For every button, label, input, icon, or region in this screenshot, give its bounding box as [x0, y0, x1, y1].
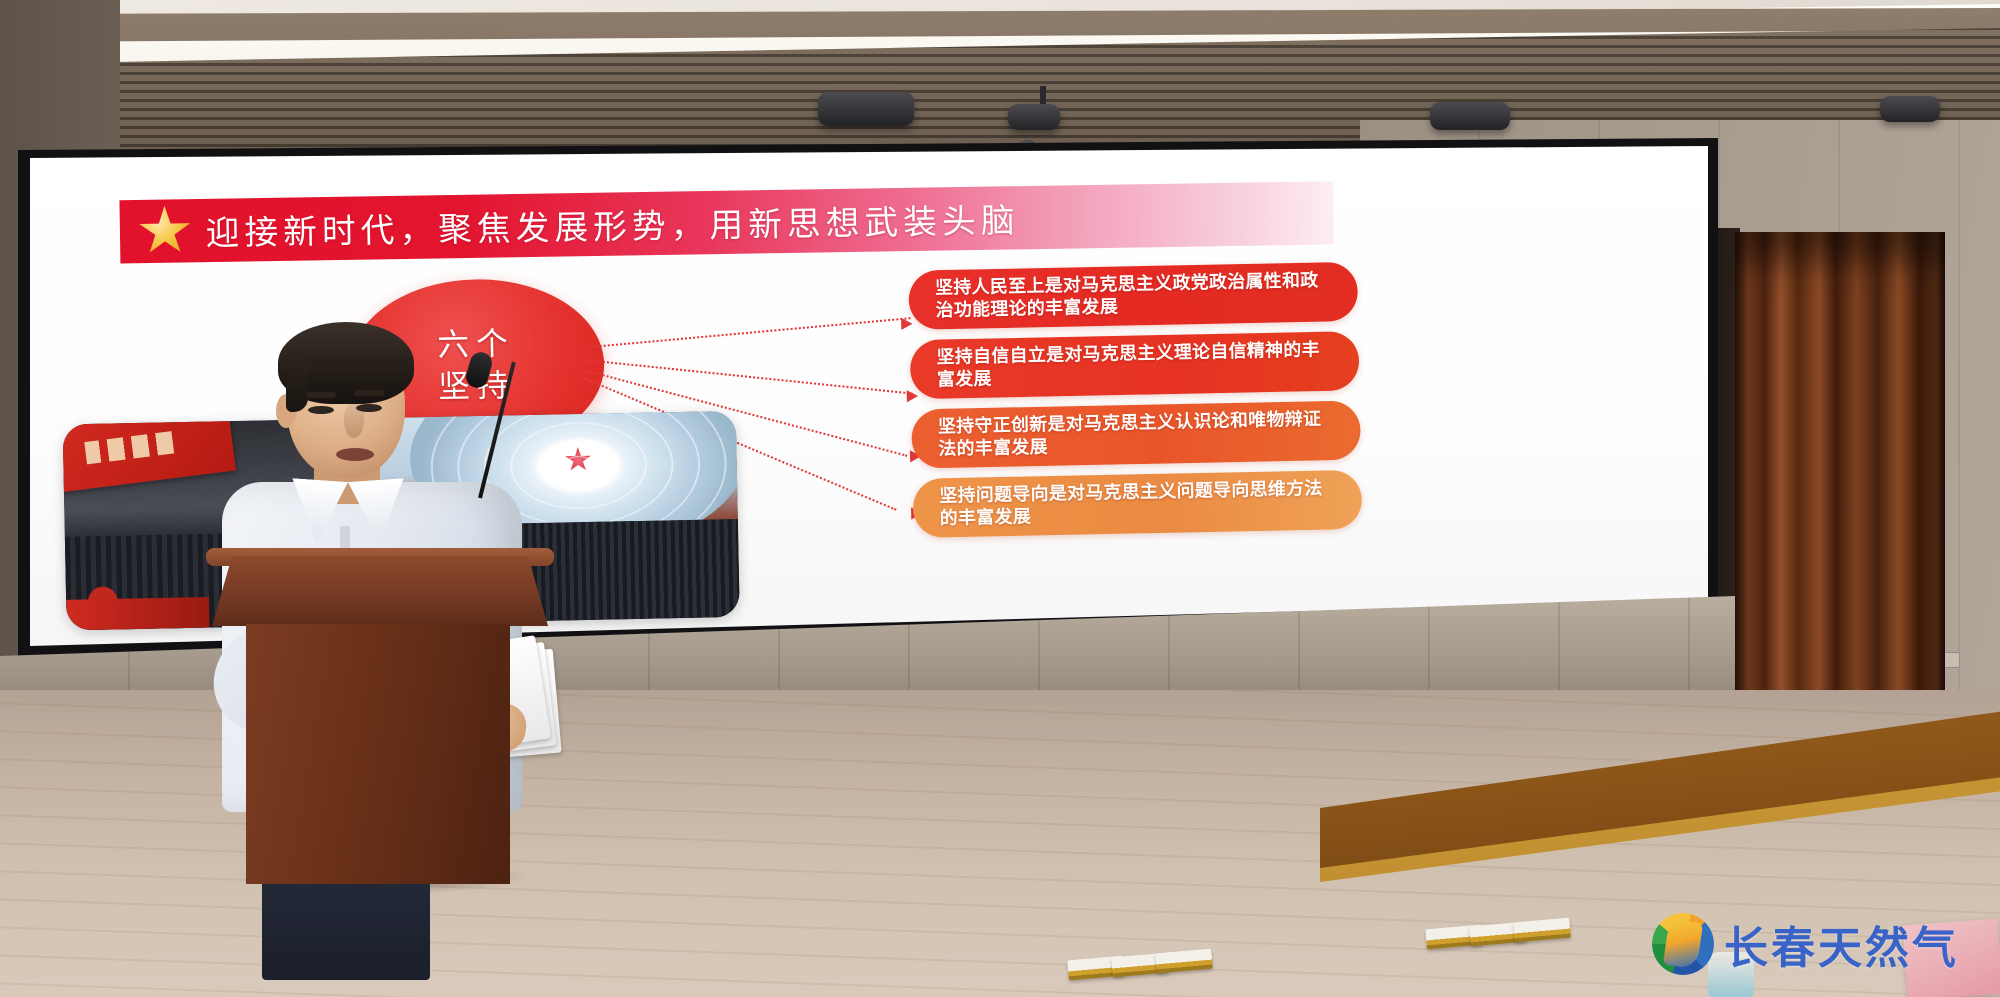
presenter-eyebrow [354, 390, 384, 396]
pill-text: 坚持守正创新是对马克思主义认识论和唯物辩证法的丰富发展 [938, 408, 1335, 461]
arrow-line [584, 359, 913, 395]
presenter-mouth [336, 448, 374, 461]
pill-text: 坚持人民至上是对马克思主义政党政治属性和政治功能理论的丰富发展 [935, 269, 1332, 322]
red-carpet-strip [66, 597, 209, 630]
projector-body [1008, 104, 1060, 130]
list-item[interactable]: 坚持问题导向是对马克思主义问题导向思维方法的丰富发展 [912, 470, 1362, 538]
pill-text: 坚持问题导向是对马克思主义问题导向思维方法的丰富发展 [939, 477, 1336, 530]
podium-body [246, 624, 510, 884]
podium-top [212, 556, 548, 626]
presenter-hair [278, 322, 414, 404]
watermark: 长春天然气 [1652, 912, 1959, 976]
red-banner-graphic [63, 411, 236, 493]
slide-title-banner: 迎接新时代，聚焦发展形势，用新思想武装头脑 [119, 181, 1334, 263]
swirl-circle-logo-icon [1652, 913, 1714, 975]
ceiling-speaker [1430, 102, 1510, 130]
ceiling-speaker [1880, 96, 1940, 122]
ceiling-speaker [818, 92, 914, 126]
watermark-text: 长春天然气 [1724, 912, 1959, 976]
presenter-nose [344, 404, 364, 438]
list-item[interactable]: 坚持人民至上是对马克思主义政党政治属性和政治功能理论的丰富发展 [908, 262, 1358, 330]
presenter-eyebrow [306, 392, 336, 398]
star-icon [138, 205, 192, 257]
presenter-eye [308, 406, 334, 414]
photo-scene: 迎接新时代，聚焦发展形势，用新思想武装头脑 六个 坚持 [0, 0, 2000, 997]
list-item[interactable]: 坚持自信自立是对马克思主义理论自信精神的丰富发展 [910, 331, 1360, 399]
list-item[interactable]: 坚持守正创新是对马克思主义认识论和唯物辩证法的丰富发展 [911, 400, 1361, 468]
pill-text: 坚持自信自立是对马克思主义理论自信精神的丰富发展 [936, 339, 1333, 392]
arrow-line [583, 317, 910, 349]
slide-title: 迎接新时代，聚焦发展形势，用新思想武装头脑 [205, 193, 1020, 255]
principle-pill-list: 坚持人民至上是对马克思主义政党政治属性和政治功能理论的丰富发展 坚持自信自立是对… [908, 262, 1362, 548]
